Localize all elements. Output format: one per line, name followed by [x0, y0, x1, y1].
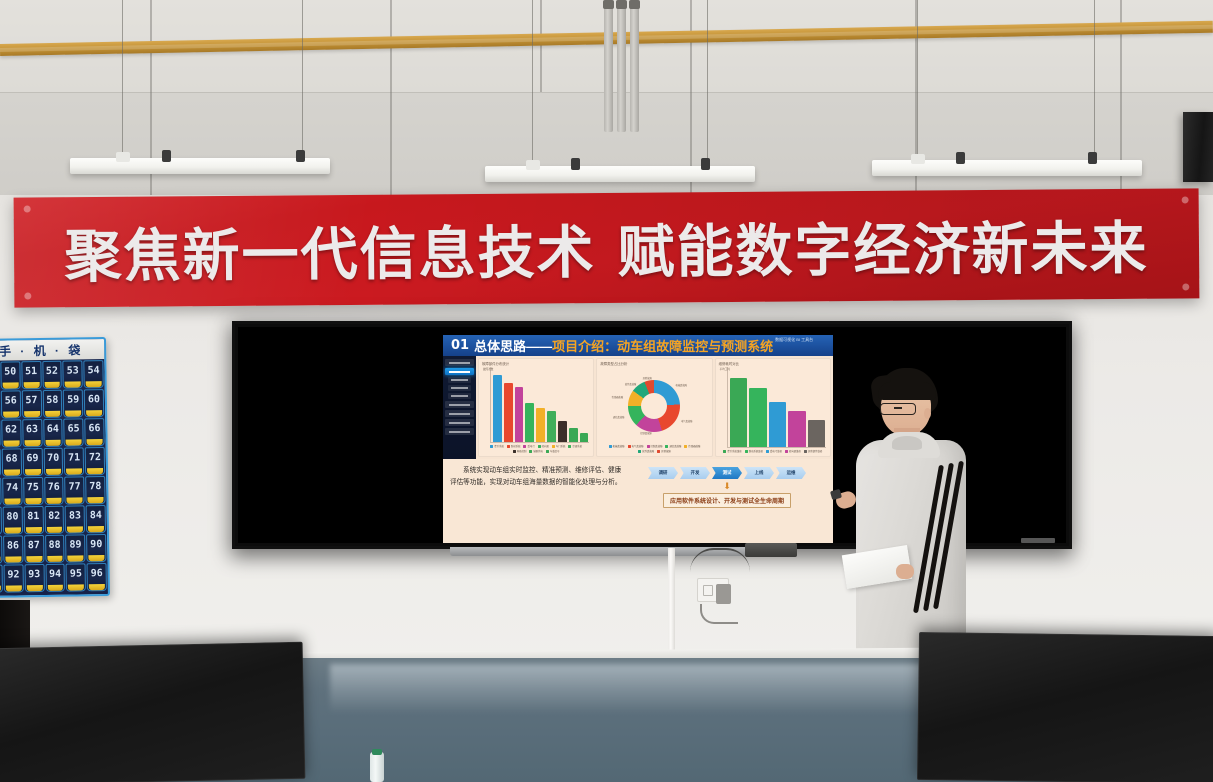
legend-swatch — [657, 450, 660, 453]
legend-entry: 通信类故障 — [665, 444, 681, 448]
phone-pocket-number: 84 — [90, 510, 102, 521]
phone-pocket-number: 94 — [49, 569, 61, 580]
dashboard-nav-item[interactable] — [448, 377, 471, 383]
phone-pocket-header: 手 · 机 · 袋 — [0, 339, 104, 361]
phone-pocket: 65 — [64, 418, 84, 446]
legend-entry: 辅助供电 — [529, 449, 543, 453]
phone-pocket: 51 — [21, 361, 41, 389]
phone-pocket: 60 — [84, 389, 104, 417]
chart-legend-1: 牵引系统制动系统受电弓转向架车门系统空调系统网络控制辅助供电车载信号 — [482, 444, 590, 454]
phone-pocket-number: 93 — [28, 569, 40, 580]
legend-entry: 软件类故障 — [638, 449, 654, 453]
phone-pocket: 75 — [23, 477, 43, 505]
presenter-ear — [924, 408, 931, 419]
legend-swatch — [638, 450, 641, 453]
phone-pocket-number: 60 — [88, 394, 100, 405]
flow-step: 调研 — [648, 467, 678, 479]
legend-swatch — [546, 450, 549, 453]
phone-pocket-number: 95 — [70, 568, 82, 579]
dashboard-nav-item[interactable] — [445, 359, 474, 366]
donut-slice-label: 控制类故障 — [640, 431, 652, 435]
legend-entry: 车门系统 — [552, 444, 566, 448]
dashboard-nav-item[interactable] — [448, 393, 471, 399]
phone-pocket: 72 — [85, 447, 105, 475]
legend-swatch — [538, 445, 541, 448]
phone-pocket-number: 71 — [68, 452, 80, 463]
phone-pocket: 53 — [63, 360, 83, 388]
phone-pocket-number: 62 — [5, 424, 17, 435]
chart-bar — [788, 411, 805, 447]
chart-bar — [749, 388, 766, 447]
legend-entry: 控制类故障 — [647, 444, 663, 448]
dashboard-nav-item[interactable] — [448, 385, 471, 391]
bar-series-1 — [493, 367, 588, 442]
chart-plot-3: 平均工时 — [727, 367, 826, 448]
phone-pocket: 85 — [0, 536, 2, 564]
legend-entry: 传感器故障 — [684, 444, 700, 448]
chart-title-2: 故障类型占比分析 — [600, 361, 708, 366]
phone-pocket: 69 — [22, 448, 42, 476]
phone-pocket: 73 — [0, 478, 1, 506]
legend-entry: 车载信号 — [546, 449, 560, 453]
flow-step: 运维 — [776, 467, 806, 479]
donut-slice-label: 电气类故障 — [681, 419, 693, 423]
legend-entry: 转向架 — [538, 444, 549, 448]
legend-swatch — [490, 445, 493, 448]
phone-pocket: 74 — [2, 477, 22, 505]
phone-pocket-number: 90 — [90, 539, 102, 550]
legend-swatch — [785, 450, 788, 453]
nav-item-label-bar — [451, 395, 467, 397]
phone-pocket-number: 87 — [28, 540, 40, 551]
phone-pocket: 84 — [86, 505, 106, 533]
chart-ylabel-1: 故障次数 — [483, 367, 493, 371]
presenter-fringe — [878, 382, 936, 400]
phone-pocket-number: 70 — [47, 453, 59, 464]
phone-pocket: 70 — [43, 448, 63, 476]
legend-swatch — [529, 450, 532, 453]
phone-pocket-number: 66 — [88, 423, 100, 434]
chart-panel-donut: 故障类型占比分析 机械类故障电气类故障控制类故障通信类故障传感器故障软件类故障其… — [596, 358, 712, 457]
ceiling-light-center — [485, 0, 755, 190]
phone-pocket: 86 — [3, 535, 23, 563]
wall-speaker — [1183, 112, 1213, 182]
phone-pocket-number: 76 — [48, 482, 60, 493]
legend-swatch — [723, 450, 726, 453]
phone-pocket-number: 78 — [89, 481, 101, 492]
monitor-back-right — [917, 632, 1213, 782]
flow-result-box: 应用软件系统设计、开发与测试全生命周期 — [663, 493, 791, 508]
chart-ylabel-3: 平均工时 — [720, 367, 730, 371]
chart-legend-3: 牵引系统维修制动系统维修受电弓维修转向架维修其他部件维修 — [719, 449, 827, 454]
slide-flow: 调研开发测试上线运维 ⬇ 应用软件系统设计、开发与测试全生命周期 — [628, 464, 826, 542]
slide-title-tiny: 数据可视化 BI 工具台 — [775, 337, 813, 343]
phone-pocket: 88 — [45, 535, 65, 563]
phone-pocket-number: 89 — [69, 539, 81, 550]
chart-title-1: 故障部件分布统计 — [482, 361, 590, 366]
media-player-box — [745, 543, 797, 557]
slide-body-text: 系统实现动车组实时监控、精准预测、维修评估、健康评估等功能，实现对动车组海量数据… — [450, 464, 622, 542]
phone-pocket: 54 — [83, 360, 103, 388]
phone-pocket-number: 58 — [46, 395, 58, 406]
dashboard-nav-item[interactable] — [445, 419, 474, 426]
down-arrow-icon: ⬇ — [723, 482, 731, 491]
dashboard-nav-item[interactable] — [445, 368, 474, 375]
phone-pocket-number: 81 — [27, 511, 39, 522]
chart-plot-1: 故障次数 — [490, 367, 589, 443]
phone-pocket-number: 63 — [26, 424, 38, 435]
legend-swatch — [745, 450, 748, 453]
phone-pocket: 63 — [22, 419, 42, 447]
legend-entry: 电气类故障 — [628, 444, 644, 448]
legend-swatch — [804, 450, 807, 453]
phone-pocket-number: 74 — [6, 482, 18, 493]
legend-swatch — [665, 445, 668, 448]
phone-pocket-number: 53 — [67, 365, 79, 376]
phone-pocket-number: 52 — [46, 366, 58, 377]
phone-pocket: 52 — [42, 361, 62, 389]
phone-pocket-number: 69 — [26, 453, 38, 464]
phone-pocket: 89 — [65, 534, 85, 562]
nav-item-label-bar — [449, 431, 469, 433]
phone-pocket-number: 59 — [67, 394, 79, 405]
legend-entry: 网络控制 — [513, 449, 527, 453]
phone-pocket-number: 50 — [4, 366, 16, 377]
flow-step-label: 开发 — [691, 470, 700, 476]
donut-ring — [628, 380, 680, 432]
phone-pocket: 68 — [2, 448, 22, 476]
chart-bar — [730, 378, 747, 447]
phone-pocket-number: 57 — [25, 395, 37, 406]
phone-pocket: 90 — [86, 534, 106, 562]
chart-bar — [569, 428, 578, 442]
flow-step-label: 调研 — [659, 470, 668, 476]
chart-legend-2: 机械类故障电气类故障控制类故障通信类故障传感器故障软件类故障其他故障 — [600, 444, 708, 454]
phone-pocket: 58 — [42, 390, 62, 418]
flow-step: 开发 — [680, 467, 710, 479]
phone-pocket: 95 — [66, 563, 86, 591]
legend-swatch — [609, 445, 612, 448]
phone-pocket: 94 — [45, 564, 65, 592]
phone-pocket-number: 75 — [27, 482, 39, 493]
phone-pocket: 59 — [63, 389, 83, 417]
phone-pocket: 82 — [44, 506, 64, 534]
chart-bar — [504, 383, 513, 442]
donut-slice-label: 其他故障 — [643, 376, 652, 380]
legend-entry: 其他部件维修 — [804, 449, 822, 453]
donut-slice-label: 通信类故障 — [613, 415, 625, 419]
chart-bar — [547, 411, 556, 442]
legend-entry: 受电弓 — [523, 444, 534, 448]
flow-chevrons: 调研开发测试上线运维 — [648, 467, 806, 479]
ceiling-light-right — [872, 0, 1142, 182]
legend-swatch — [523, 445, 526, 448]
phone-pocket-board: 手 · 机 · 袋 495051525354555657585960616263… — [0, 337, 110, 598]
phone-pocket-number: 54 — [87, 365, 99, 376]
legend-swatch — [507, 445, 510, 448]
phone-pocket: 83 — [65, 505, 85, 533]
phone-pocket: 62 — [1, 419, 21, 447]
display-brand-logo — [1021, 538, 1055, 543]
classroom-presentation-scene: 聚焦新一代信息技术 赋能数字经济新未来 手 · 机 · 袋 4950515253… — [0, 0, 1213, 782]
phone-pocket-number: 77 — [68, 481, 80, 492]
legend-swatch — [552, 445, 555, 448]
phone-pocket: 96 — [87, 563, 107, 591]
legend-entry: 受电弓维修 — [766, 449, 782, 453]
phone-pocket-number: 65 — [68, 423, 80, 434]
legend-entry: 空调系统 — [568, 444, 582, 448]
legend-swatch — [766, 450, 769, 453]
phone-pocket: 50 — [0, 361, 20, 389]
flow-step: 测试 — [712, 467, 742, 479]
wall-conduit — [668, 548, 675, 656]
phone-pocket: 71 — [64, 447, 84, 475]
phone-pocket-number: 88 — [49, 540, 61, 551]
phone-pocket: 87 — [24, 535, 44, 563]
phone-pocket: 56 — [1, 390, 21, 418]
ceiling-seam — [390, 0, 392, 200]
dashboard-nav-item[interactable] — [445, 401, 474, 408]
chart-title-3: 维修耗时对比 — [719, 361, 827, 366]
flow-step: 上线 — [744, 467, 774, 479]
chart-panel-bar-1: 故障部件分布统计 故障次数 牵引系统制动系统受电弓转向架车门系统空调系统网络控制… — [478, 358, 594, 457]
phone-pocket: 77 — [64, 476, 84, 504]
legend-entry: 制动系统维修 — [745, 449, 763, 453]
legend-entry: 其他故障 — [657, 449, 671, 453]
legend-entry: 牵引系统 — [490, 444, 504, 448]
presenter-hand-right — [896, 564, 914, 579]
legend-entry: 机械类故障 — [609, 444, 625, 448]
legend-entry: 牵引系统维修 — [723, 449, 741, 453]
phone-pocket: 78 — [85, 476, 105, 504]
phone-pocket-number: 64 — [47, 424, 59, 435]
presentation-slide: 01 总体思路—— 项目介绍：动车组故障监控与预测系统 数据可视化 BI 工具台… — [443, 335, 833, 543]
ceiling-light-left — [70, 0, 330, 180]
flow-step-label: 测试 — [723, 470, 732, 476]
chart-bar — [769, 402, 786, 447]
donut-slice-label: 传感器故障 — [612, 395, 624, 399]
phone-pocket-number: 92 — [7, 569, 19, 580]
nav-item-label-bar — [449, 422, 469, 424]
chart-bar — [525, 403, 534, 442]
donut-slice-label: 机械类故障 — [675, 383, 687, 387]
phone-pocket-number: 51 — [25, 366, 37, 377]
dashboard-sidebar[interactable] — [443, 356, 476, 459]
slide-title-main: 总体思路—— — [474, 336, 552, 355]
dashboard-nav-item[interactable] — [445, 410, 474, 417]
monitor-back-left — [0, 642, 305, 782]
legend-swatch — [647, 445, 650, 448]
legend-swatch — [513, 450, 516, 453]
nav-item-label-bar — [449, 404, 469, 406]
chart-bar — [536, 408, 545, 442]
legend-entry: 制动系统 — [507, 444, 521, 448]
chart-panel-bar-2: 维修耗时对比 平均工时 牵引系统维修制动系统维修受电弓维修转向架维修其他部件维修 — [715, 358, 831, 457]
phone-pocket: 93 — [24, 564, 44, 592]
phone-pocket: 66 — [84, 418, 104, 446]
legend-swatch — [628, 445, 631, 448]
slide-number: 01 — [451, 338, 469, 353]
phone-pocket-number: 86 — [7, 540, 19, 551]
slide-title-sub: 项目介绍：动车组故障监控与预测系统 — [552, 336, 773, 355]
glasses-icon — [880, 403, 916, 415]
phone-pocket: 76 — [44, 477, 64, 505]
chart-bar — [493, 375, 502, 443]
chart-bar — [580, 433, 589, 442]
chart-plot-2: 机械类故障电气类故障控制类故障通信类故障传感器故障软件类故障其他故障 — [600, 367, 708, 444]
chart-bar — [515, 387, 524, 442]
phone-pocket-number: 96 — [91, 568, 103, 579]
nav-item-label-bar — [449, 413, 469, 415]
phone-pocket: 80 — [2, 506, 22, 534]
phone-pocket-number: 72 — [89, 452, 101, 463]
phone-pocket-number: 56 — [5, 395, 17, 406]
nav-item-label-bar — [451, 387, 467, 389]
event-banner: 聚焦新一代信息技术 赋能数字经济新未来 — [14, 188, 1200, 307]
dashboard-region: 故障部件分布统计 故障次数 牵引系统制动系统受电弓转向架车门系统空调系统网络控制… — [443, 356, 833, 459]
dashboard-charts: 故障部件分布统计 故障次数 牵引系统制动系统受电弓转向架车门系统空调系统网络控制… — [476, 356, 833, 459]
presenter-collar — [892, 436, 922, 450]
nav-item-label-bar — [449, 362, 469, 364]
phone-pocket: 79 — [0, 507, 2, 535]
chart-bar — [808, 420, 825, 447]
bottle-cap — [372, 749, 382, 755]
phone-pocket-number: 82 — [48, 511, 60, 522]
nav-item-label-bar — [451, 379, 467, 381]
legend-swatch — [568, 445, 571, 448]
phone-pocket-number: 68 — [5, 453, 17, 464]
phone-pocket: 91 — [0, 565, 3, 593]
donut-slice-label: 软件类故障 — [625, 382, 637, 386]
bar-series-3 — [730, 367, 825, 447]
flow-step-label: 运维 — [787, 470, 796, 476]
phone-pocket-number: 80 — [6, 511, 18, 522]
nav-item-label-bar — [449, 371, 469, 373]
phone-pocket: 64 — [43, 419, 63, 447]
phone-pocket: 81 — [23, 506, 43, 534]
phone-pocket: 57 — [21, 390, 41, 418]
legend-swatch — [684, 445, 687, 448]
phone-pocket-grid: 4950515253545556575859606162636465666768… — [0, 359, 108, 594]
power-cord — [700, 604, 738, 624]
power-plug — [716, 584, 731, 604]
phone-pocket: 92 — [3, 564, 23, 592]
slide-title-bar: 01 总体思路—— 项目介绍：动车组故障监控与预测系统 数据可视化 BI 工具台 — [443, 335, 833, 356]
banner-text: 聚焦新一代信息技术 赋能数字经济新未来 — [64, 203, 1148, 294]
water-bottle — [370, 752, 384, 782]
legend-entry: 转向架维修 — [785, 449, 801, 453]
flow-step-label: 上线 — [755, 470, 764, 476]
slide-body: 系统实现动车组实时监控、精准预测、维修评估、健康评估等功能，实现对动车组海量数据… — [443, 459, 833, 543]
dashboard-nav-item[interactable] — [445, 428, 474, 435]
phone-pocket-number: 83 — [69, 510, 81, 521]
chart-bar — [558, 421, 567, 442]
